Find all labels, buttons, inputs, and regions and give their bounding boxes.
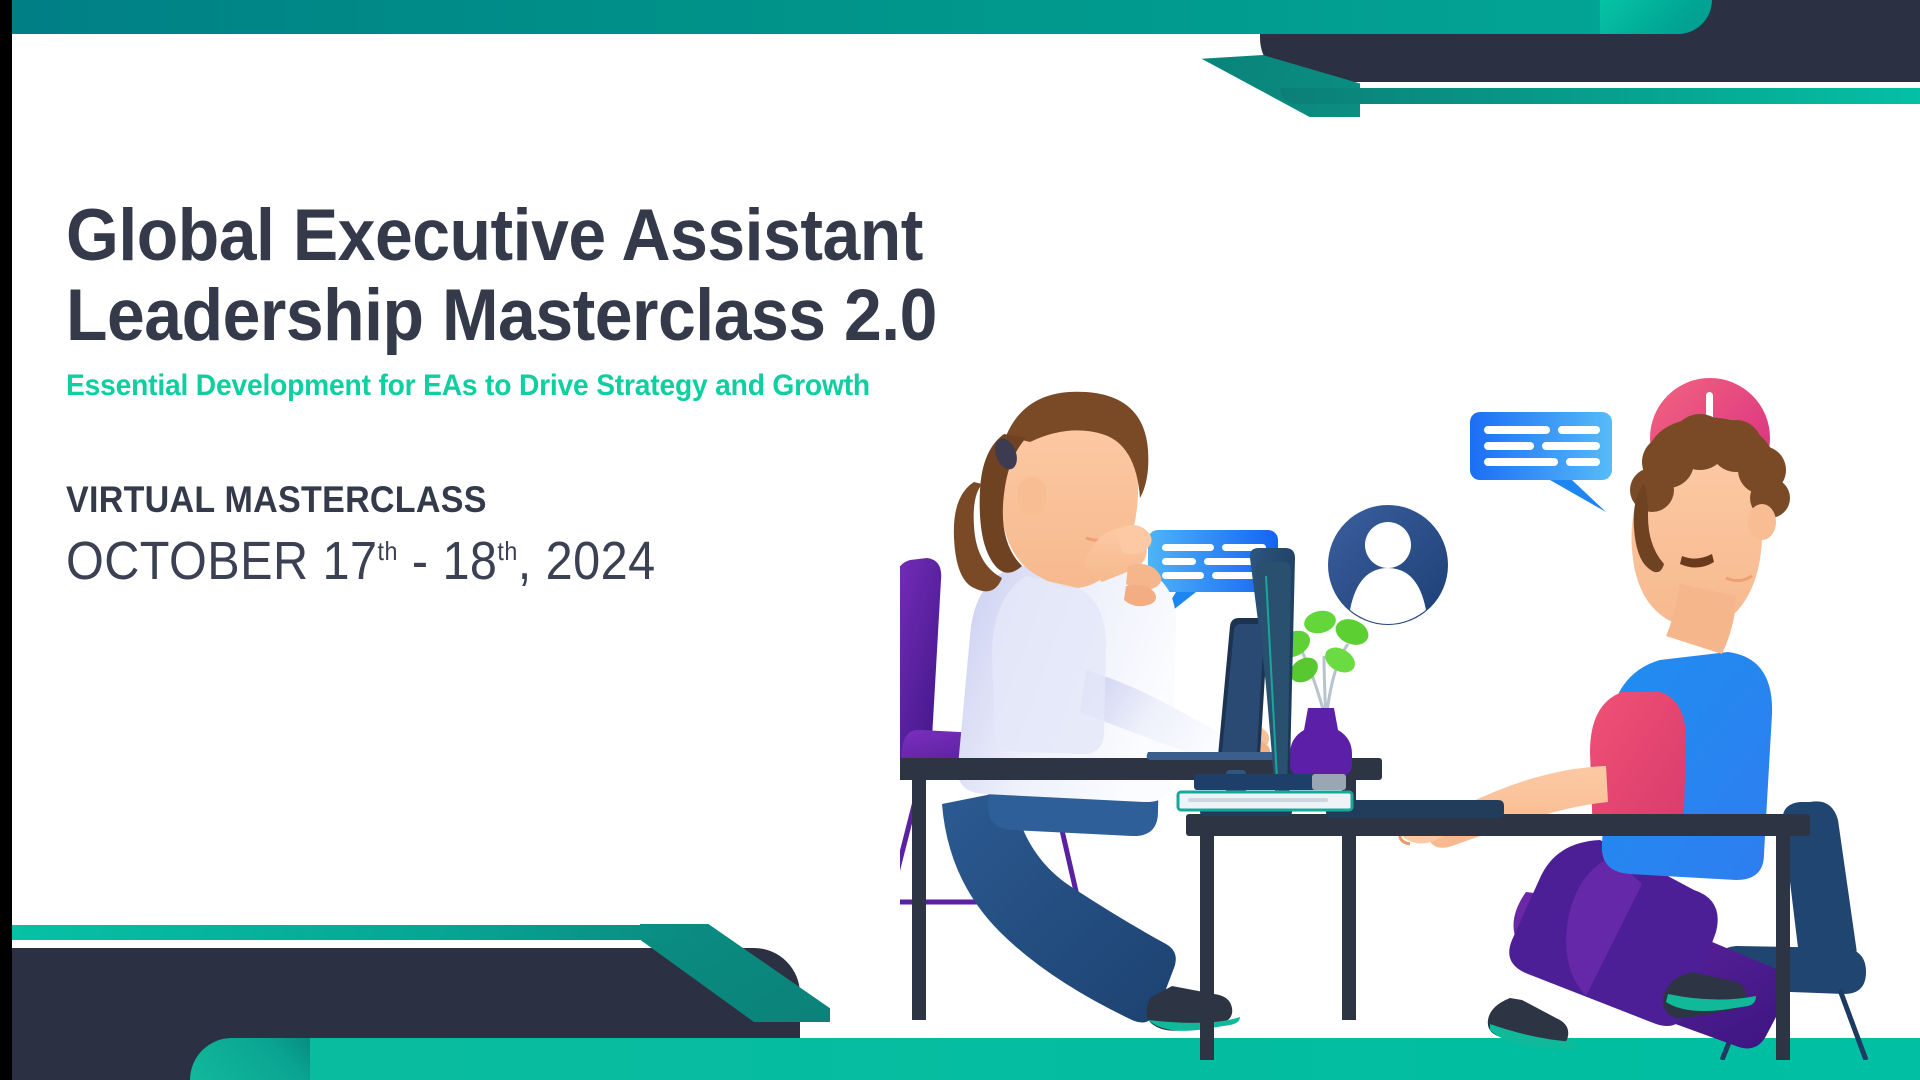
page-title-line-2: Leadership Masterclass 2.0 [66,276,937,356]
date-day-start: 17 [323,531,378,591]
date-separator: - [412,531,429,591]
book-stack [1178,774,1352,810]
event-type-label: VIRTUAL MASTERCLASS [66,479,928,521]
man-figure [1400,414,1866,1060]
bottom-teal-bar-cap [190,1038,310,1080]
date-year: , 2024 [518,531,656,591]
date-month: OCTOBER [66,531,309,591]
date-ordinal-start: th [378,538,398,566]
chat-bubble-right-icon [1470,412,1612,512]
page-subtitle: Essential Development for EAs to Drive S… [66,369,946,403]
bottom-left-teal-line [0,925,700,940]
page-title-line-1: Global Executive Assistant [66,196,937,276]
top-teal-bar-cap [1600,0,1712,34]
top-teal-bar [0,0,1672,34]
date-ordinal-end: th [497,538,517,566]
hero-text-block: Global Executive Assistant Leadership Ma… [66,196,1003,592]
top-right-teal-line [1280,88,1920,104]
event-date-label: OCTOBER 17th - 18th, 2024 [66,530,909,592]
hero-illustration [900,370,1910,1060]
user-avatar-icon [1328,505,1448,625]
presentation-slide: Global Executive Assistant Leadership Ma… [0,0,1920,1080]
left-edge-strip [0,0,12,1080]
date-day-end: 18 [442,531,497,591]
